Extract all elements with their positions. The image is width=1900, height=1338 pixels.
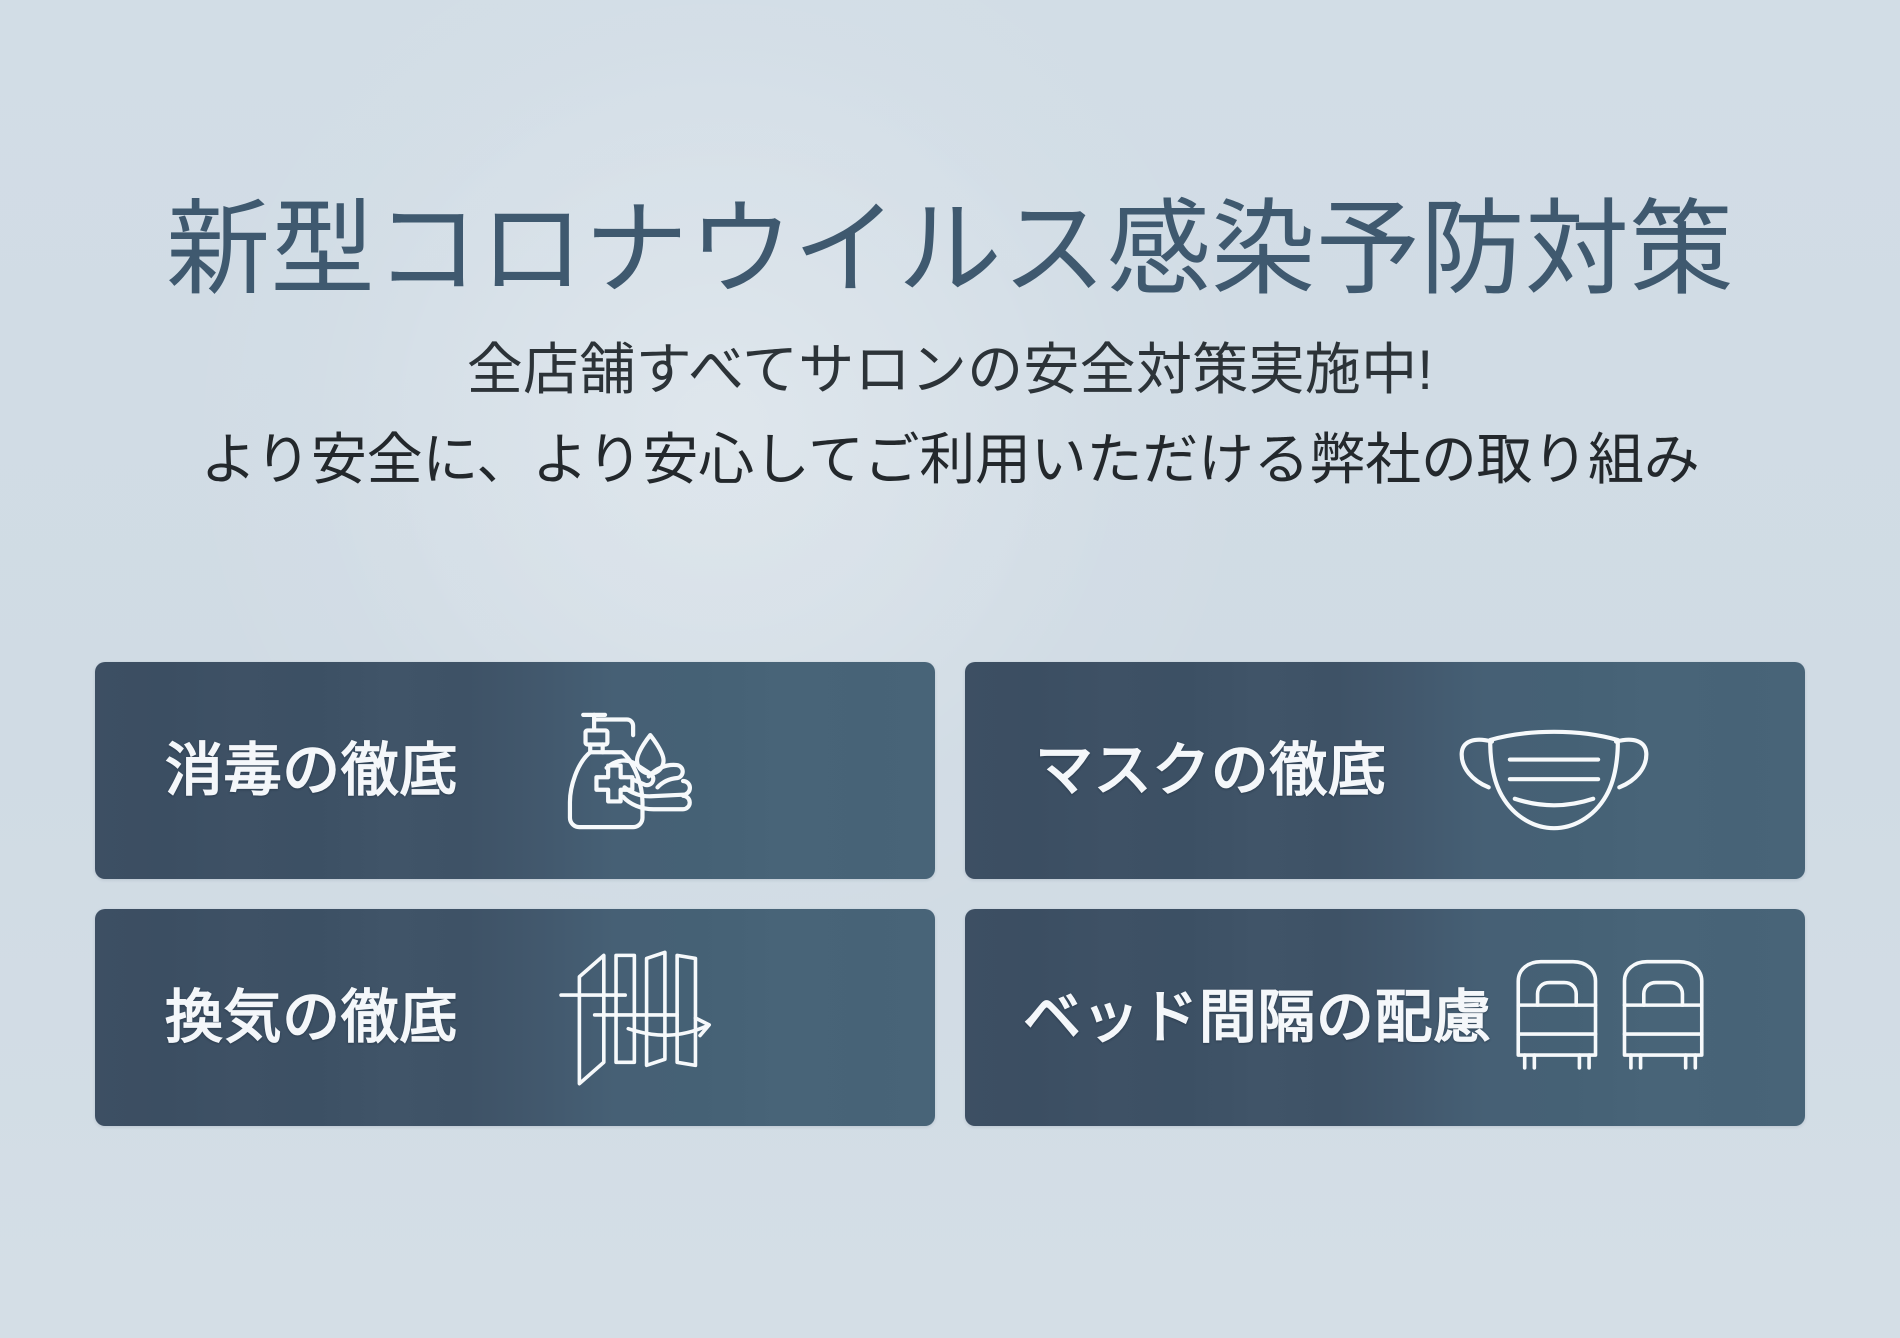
card-content: マスクの徹底 (965, 662, 1805, 879)
measure-card-bed-spacing[interactable]: ベッド間隔の配慮 (965, 909, 1805, 1126)
card-content: 換気の徹底 (95, 909, 935, 1126)
measure-card-label: ベッド間隔の配慮 (1023, 989, 1492, 1047)
measure-card-label: 換気の徹底 (165, 989, 458, 1047)
hand-sanitizer-icon (552, 693, 708, 849)
poster-canvas: 新型コロナウイルス感染予防対策 全店舗すべてサロンの安全対策実施中! より安全に… (0, 0, 1900, 1338)
face-mask-icon (1456, 705, 1652, 837)
measure-card-label: マスクの徹底 (1035, 742, 1386, 800)
subtitle-primary: 全店舗すべてサロンの安全対策実施中! (0, 305, 1900, 401)
headings-block: 新型コロナウイルス感染予防対策 全店舗すべてサロンの安全対策実施中! より安全に… (0, 0, 1900, 490)
page-title: 新型コロナウイルス感染予防対策 (0, 0, 1900, 305)
card-content: ベッド間隔の配慮 (965, 909, 1805, 1126)
measure-card-mask[interactable]: マスクの徹底 (965, 662, 1805, 879)
measure-card-label: 消毒の徹底 (165, 742, 458, 800)
ventilation-window-icon (558, 943, 726, 1093)
measure-card-ventilation[interactable]: 換気の徹底 (95, 909, 935, 1126)
subtitle-secondary: より安全に、より安心してご利用いただける弊社の取り組み (0, 401, 1900, 491)
two-beds-icon (1510, 952, 1710, 1084)
measures-card-grid: 消毒の徹底 (95, 662, 1805, 1126)
measure-card-disinfection[interactable]: 消毒の徹底 (95, 662, 935, 879)
card-content: 消毒の徹底 (95, 662, 935, 879)
